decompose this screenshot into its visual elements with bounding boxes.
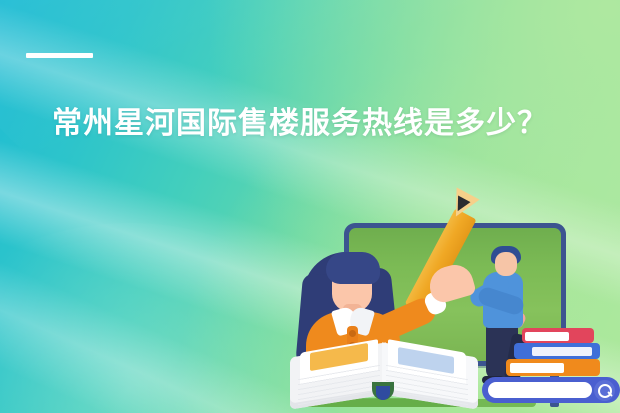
cover-image: 常州星河国际售楼服务热线是多少？ <box>0 0 620 413</box>
open-book-spine-inner <box>376 386 390 400</box>
accent-rule <box>26 53 93 58</box>
woman-button-upper <box>349 330 356 337</box>
book-blue-pages <box>532 347 592 356</box>
search-input[interactable] <box>488 382 592 398</box>
book-red-pages <box>525 332 569 341</box>
man-head <box>495 252 517 276</box>
woman-hair-front <box>326 252 380 284</box>
education-illustration <box>282 196 620 413</box>
page-title: 常州星河国际售楼服务热线是多少？ <box>52 104 592 144</box>
book-orange-pages <box>510 363 564 373</box>
